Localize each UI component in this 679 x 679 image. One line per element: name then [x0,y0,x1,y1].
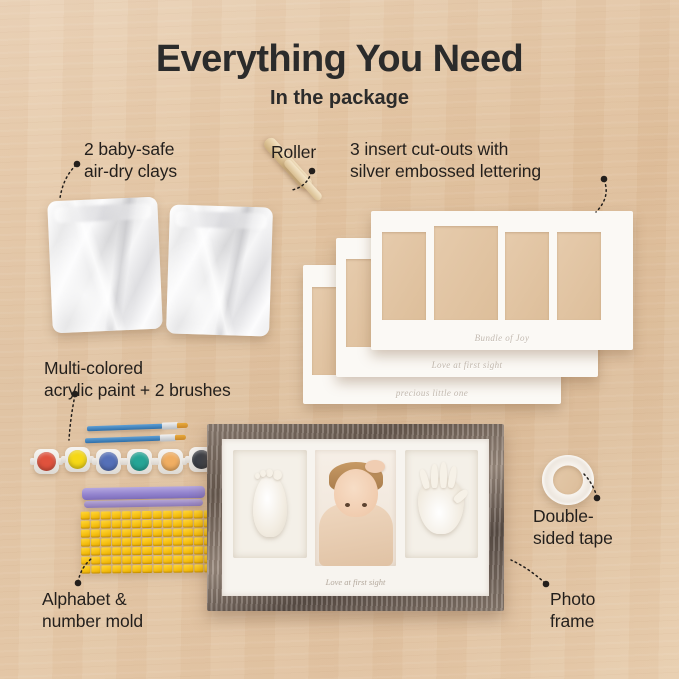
mold-piece [163,565,172,573]
mold-piece [132,520,141,528]
mold-piece [81,530,90,538]
mold-piece [193,528,202,536]
frame-caption: Love at first sight [222,577,489,587]
mold-piece [163,511,172,519]
mold-piece [81,548,90,556]
mold-piece [142,529,151,537]
frame-mat: Love at first sight [222,439,489,596]
baby-eye-right [362,503,367,507]
callout-label-clay: 2 baby-safe air-dry clays [84,139,177,182]
mold-piece [152,529,161,537]
mold-piece [111,511,120,519]
mold-piece [193,537,202,545]
mold-piece [183,538,192,546]
footprint-toe [255,473,260,479]
mold-piece [102,556,111,564]
mold-piece [193,519,202,527]
mold-piece [163,529,172,537]
mold-piece [111,520,120,528]
mold-piece [142,547,151,555]
mold-piece [112,529,121,537]
mold-piece [142,538,151,546]
callout-label-roller: Roller [271,142,316,164]
mat-window [434,226,498,320]
paint-ink [99,452,118,471]
mold-piece [101,538,110,546]
brush-ferrule [160,434,176,442]
leader-line-inserts [596,176,607,212]
mold-piece [194,546,203,554]
mold-piece [183,511,192,519]
mold-piece [122,556,131,564]
callout-label-tape: Double- sided tape [533,506,613,549]
mold-piece [163,520,172,528]
mold-piece [122,529,131,537]
leader-line-frame [511,560,549,587]
leader-line-clay [60,161,80,198]
paint-pot-blue [96,449,121,474]
mold-piece [194,564,203,572]
insert-mat-top: Bundle of Joy [371,211,633,350]
mold-piece [132,529,141,537]
mat-window [505,232,549,320]
handprint-finger [440,462,447,488]
baby-headband-bow [365,460,385,473]
photo-frame: Love at first sight [207,424,504,611]
mold-piece [193,510,202,518]
baby-head [334,469,378,517]
insert-engraving-middle: Love at first sight [336,360,598,370]
mold-piece [112,565,121,573]
mold-piece [91,565,100,573]
mold-piece [91,529,100,537]
footprint-toe [266,469,273,477]
handprint-finger [447,466,458,489]
pouch-crease [47,197,163,334]
mold-piece [132,556,141,564]
mold-piece [183,556,192,564]
baby-handprint-icon [418,478,464,534]
mold-piece [81,521,90,529]
mold-piece [142,511,151,519]
paint-brush-1 [87,424,163,432]
mold-piece [152,511,161,519]
mat-window [382,232,426,320]
mat-window [557,232,601,320]
mold-piece [183,547,192,555]
mold-piece [91,556,100,564]
mold-piece [101,511,110,519]
mold-piece [173,511,182,519]
mold-piece [91,520,100,528]
mold-piece [184,565,193,573]
paint-pot-teal [127,449,152,474]
product-infographic: Everything You Need In the package preci… [0,0,679,679]
mold-piece [112,547,121,555]
callout-label-inserts: 3 insert cut-outs with silver embossed l… [350,139,541,182]
callout-label-paint: Multi-colored acrylic paint + 2 brushes [44,358,231,401]
mold-piece [173,556,182,564]
mold-piece [91,538,100,546]
paint-ink [161,452,180,471]
footprint-cell [233,450,307,558]
paint-pot-orange [158,449,183,474]
roller-handle [283,158,324,202]
brush-bristle [177,423,188,428]
mold-piece [122,520,131,528]
mold-piece [152,520,161,528]
mold-piece [122,565,131,573]
mold-piece [153,556,162,564]
purple-tool-bar-bottom [84,499,203,508]
mold-piece [173,538,182,546]
mold-piece [132,511,141,519]
insert-engraving-top: Bundle of Joy [371,333,633,343]
mold-piece [173,565,182,573]
paint-ink [68,450,87,469]
clay-pouch-2 [166,204,273,336]
callout-label-frame: Photo frame [550,589,595,632]
baby-photo [315,450,396,566]
paint-brush-2 [85,436,161,444]
page-title: Everything You Need [0,37,679,81]
double-sided-tape-roll [542,455,594,505]
mold-piece [183,529,192,537]
mold-piece [102,547,111,555]
mold-piece [112,556,121,564]
mold-piece [122,538,131,546]
callout-label-alphabet: Alphabet & number mold [42,589,143,632]
mold-piece [183,520,192,528]
pouch-crease [166,204,273,336]
mold-piece [122,547,131,555]
mold-piece [91,511,100,519]
paint-pot-red [34,449,59,474]
mold-piece [143,565,152,573]
mold-piece [132,538,141,546]
mold-piece [153,538,162,546]
alphabet-number-mold [81,510,214,573]
purple-tool-bar-top [82,486,205,500]
mold-piece [194,555,203,563]
clay-pouch-1 [47,197,163,334]
paint-pot-yellow [65,447,90,472]
page-subtitle: In the package [0,86,679,110]
mold-piece [142,520,151,528]
mold-piece [102,565,111,573]
mold-piece [101,529,110,537]
mold-piece [163,556,172,564]
mold-piece [81,539,90,547]
mold-piece [153,547,162,555]
insert-engraving-bottom: precious little one [303,388,561,398]
mold-piece [81,566,90,574]
brush-bristle [175,435,186,440]
handprint-finger [419,469,431,490]
paint-ink [37,452,56,471]
mold-piece [101,520,110,528]
footprint-toe [273,470,282,480]
mold-piece [81,557,90,565]
baby-footprint-icon [253,475,287,537]
mold-piece [163,538,172,546]
footprint-toe [260,470,266,477]
handprint-thumb [453,488,470,505]
mold-piece [91,547,100,555]
baby-eye-left [345,503,350,507]
mold-piece [163,547,172,555]
paint-ink [130,452,149,471]
mold-piece [132,565,141,573]
brush-ferrule [162,422,178,430]
mold-piece [173,529,182,537]
handprint-cell [405,450,479,558]
mold-piece [132,547,141,555]
mold-piece [112,538,121,546]
mold-piece [122,511,131,519]
mold-piece [81,512,90,520]
mold-piece [143,556,152,564]
mold-piece [173,547,182,555]
handprint-finger [431,464,438,488]
mold-piece [173,520,182,528]
mold-piece [153,565,162,573]
